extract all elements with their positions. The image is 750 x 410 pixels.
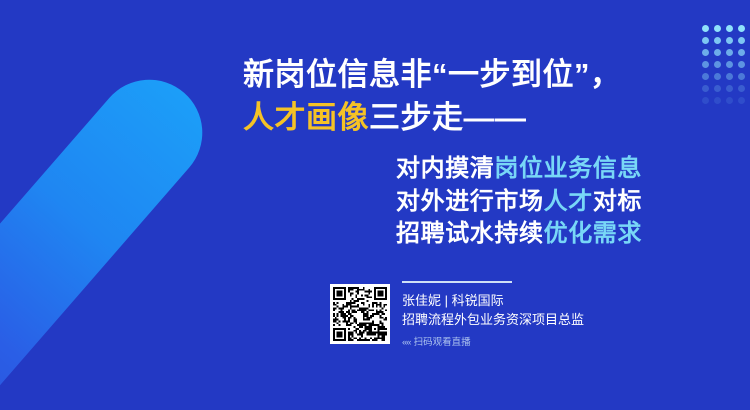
key-point-2-plain: 对外进行市场 [396, 188, 544, 215]
grid-dot [702, 49, 709, 56]
grid-dot [726, 49, 733, 56]
grid-dot [702, 73, 709, 80]
key-point-2: 对外进行市场人才对标 [396, 186, 656, 219]
diagonal-bar-decoration [0, 58, 224, 410]
grid-dot [726, 25, 733, 32]
grid-dot [702, 61, 709, 68]
scan-cta: ««扫码观看直播 [402, 336, 652, 349]
double-chevron-left-icon: «« [402, 337, 411, 348]
key-point-2-accent: 人才 [544, 188, 593, 215]
grid-dot [714, 37, 721, 44]
speaker-title: 招聘流程外包业务资深项目总监 [402, 310, 652, 329]
speaker-info: 张佳妮 | 科锐国际 招聘流程外包业务资深项目总监 ««扫码观看直播 [402, 281, 652, 349]
key-point-1: 对内摸清岗位业务信息 [396, 153, 656, 186]
grid-dot [726, 61, 733, 68]
key-point-1-accent: 岗位业务信息 [494, 155, 642, 182]
grid-dot [702, 37, 709, 44]
dot-grid-decoration [702, 25, 750, 105]
grid-dot [738, 25, 745, 32]
grid-dot [714, 97, 721, 104]
headline-line-1: 新岗位信息非“一步到位”， [243, 53, 663, 96]
grid-dot [702, 85, 709, 92]
headline: 新岗位信息非“一步到位”， 人才画像三步走—— [243, 53, 663, 139]
qr-code[interactable] [330, 284, 390, 344]
grid-dot [738, 85, 745, 92]
poster-canvas: 新岗位信息非“一步到位”， 人才画像三步走—— 对内摸清岗位业务信息 对外进行市… [0, 0, 750, 410]
grid-dot [738, 49, 745, 56]
grid-dot [726, 73, 733, 80]
grid-dot [702, 25, 709, 32]
grid-dot [714, 49, 721, 56]
grid-dot [714, 73, 721, 80]
qr-code-image [333, 287, 387, 341]
grid-dot [738, 73, 745, 80]
headline-accent-text: 人才画像 [243, 100, 369, 135]
key-point-3-plain: 招聘试水持续 [396, 220, 544, 247]
grid-dot [726, 97, 733, 104]
grid-dot [738, 61, 745, 68]
headline-line-2-rest: 三步走—— [369, 100, 527, 135]
scan-cta-label: 扫码观看直播 [414, 337, 471, 348]
grid-dot [714, 25, 721, 32]
grid-dot [714, 61, 721, 68]
grid-dot [726, 37, 733, 44]
grid-dot [738, 37, 745, 44]
grid-dot [702, 97, 709, 104]
grid-dot [738, 97, 745, 104]
key-point-1-plain: 对内摸清 [396, 155, 494, 182]
key-points-list: 对内摸清岗位业务信息 对外进行市场人才对标 招聘试水持续优化需求 [396, 153, 656, 251]
divider-line [402, 281, 512, 283]
key-point-2-tail: 对标 [593, 188, 642, 215]
speaker-name: 张佳妮 | 科锐国际 [402, 291, 652, 310]
grid-dot [726, 85, 733, 92]
grid-dot [714, 85, 721, 92]
key-point-3: 招聘试水持续优化需求 [396, 218, 656, 251]
headline-line-2: 人才画像三步走—— [243, 96, 663, 139]
key-point-3-accent: 优化需求 [544, 220, 642, 247]
